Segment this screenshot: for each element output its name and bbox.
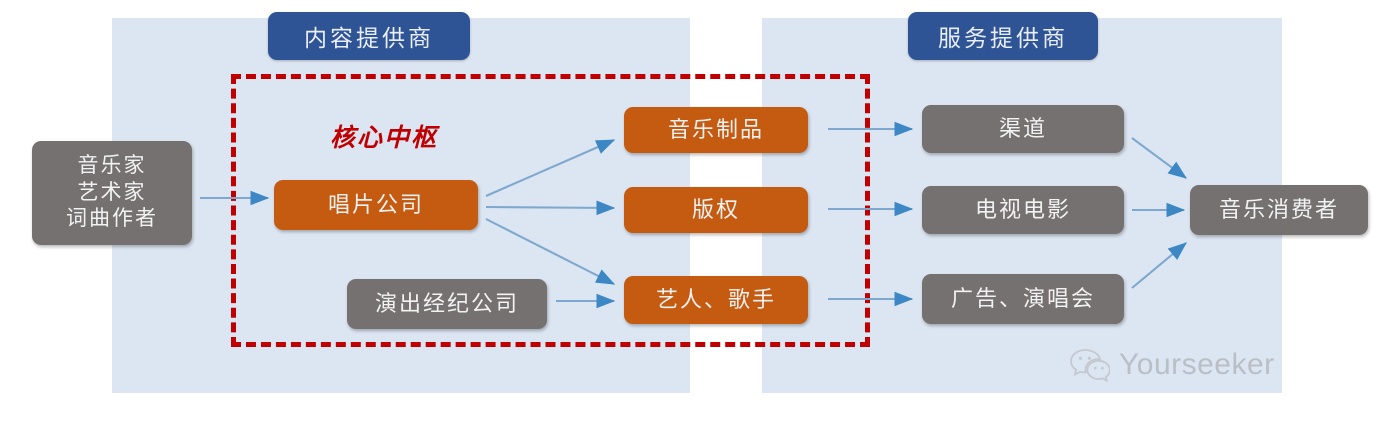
node-creators-line-1: 音乐家 [78,153,147,179]
node-creators-line-3: 词曲作者 [66,206,158,232]
core-hub-label: 核心中枢 [330,118,438,154]
wechat-icon [1070,348,1110,382]
node-ads-concerts[interactable]: 广告、演唱会 [922,274,1124,324]
node-channel[interactable]: 渠道 [922,105,1124,153]
node-music-consumers[interactable]: 音乐消费者 [1190,185,1368,235]
node-creators-line-2: 艺术家 [78,180,147,206]
node-tv-film[interactable]: 电视电影 [922,186,1124,234]
node-copyright[interactable]: 版权 [624,187,808,233]
node-artists-singers[interactable]: 艺人、歌手 [624,276,808,324]
node-performance-agency[interactable]: 演出经纪公司 [347,279,547,329]
node-creators[interactable]: 音乐家 艺术家 词曲作者 [32,141,192,245]
diagram-canvas: 内容提供商 服务提供商 核心中枢 [0,0,1397,427]
node-music-products[interactable]: 音乐制品 [624,107,808,153]
watermark-text: Yourseeker [1119,348,1275,382]
node-record-company[interactable]: 唱片公司 [274,180,478,230]
section-header-content-provider: 内容提供商 [268,12,470,60]
watermark: Yourseeker [1070,348,1275,382]
section-header-service-provider: 服务提供商 [908,12,1098,60]
